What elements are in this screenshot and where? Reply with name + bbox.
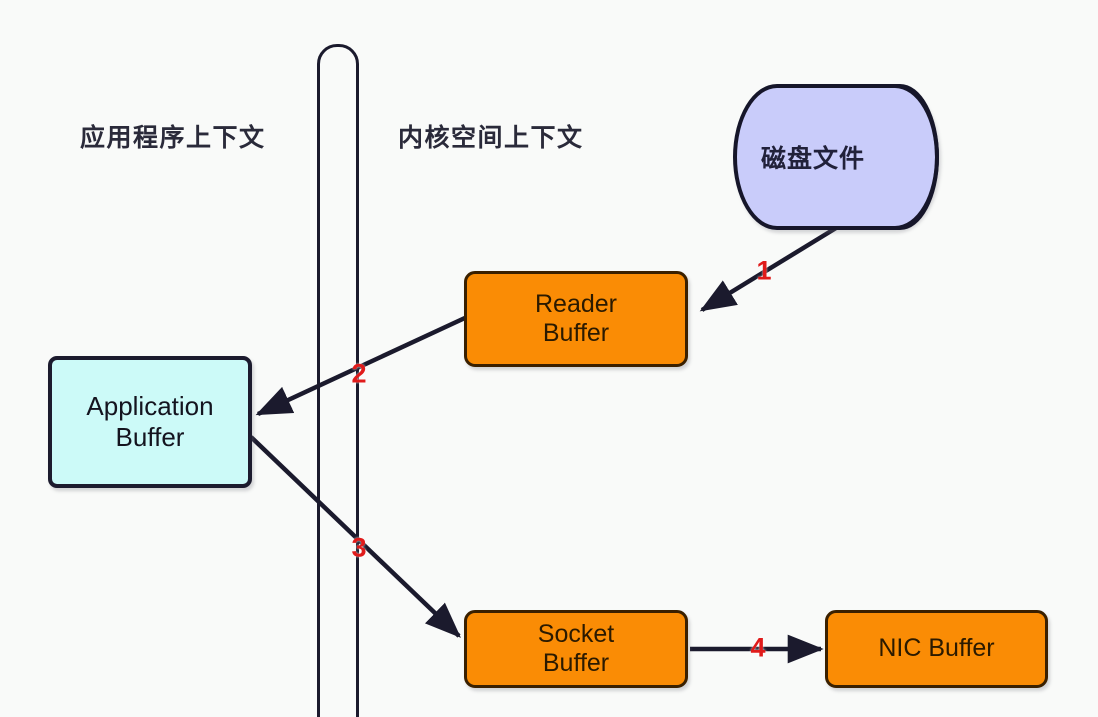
disk-file-label: 磁盘文件: [733, 84, 893, 230]
socket-buffer-label-line-2: Buffer: [543, 649, 609, 679]
step-number-4: 4: [750, 633, 765, 664]
reader-buffer-label-line-1: Reader: [535, 290, 617, 320]
nic-buffer-label-line-1: NIC Buffer: [878, 634, 994, 664]
socket-buffer-label-line-1: Socket: [538, 620, 614, 650]
nic-buffer-node[interactable]: NIC Buffer: [825, 610, 1048, 688]
step-number-3: 3: [351, 533, 366, 564]
reader-buffer-node[interactable]: Reader Buffer: [464, 271, 688, 367]
diagram-canvas: 应用程序上下文 内核空间上下文 磁盘文件 Reader Buffer Appli…: [0, 0, 1098, 717]
disk-file-node[interactable]: 磁盘文件: [733, 84, 939, 230]
application-buffer-node[interactable]: Application Buffer: [48, 356, 252, 488]
kernel-context-label: 内核空间上下文: [398, 118, 584, 154]
step-number-2: 2: [351, 359, 366, 390]
application-buffer-label-line-2: Buffer: [116, 422, 185, 453]
step-number-1: 1: [756, 256, 771, 287]
application-context-label: 应用程序上下文: [80, 118, 266, 154]
socket-buffer-node[interactable]: Socket Buffer: [464, 610, 688, 688]
application-buffer-label-line-1: Application: [86, 391, 213, 422]
reader-buffer-label-line-2: Buffer: [543, 319, 609, 349]
